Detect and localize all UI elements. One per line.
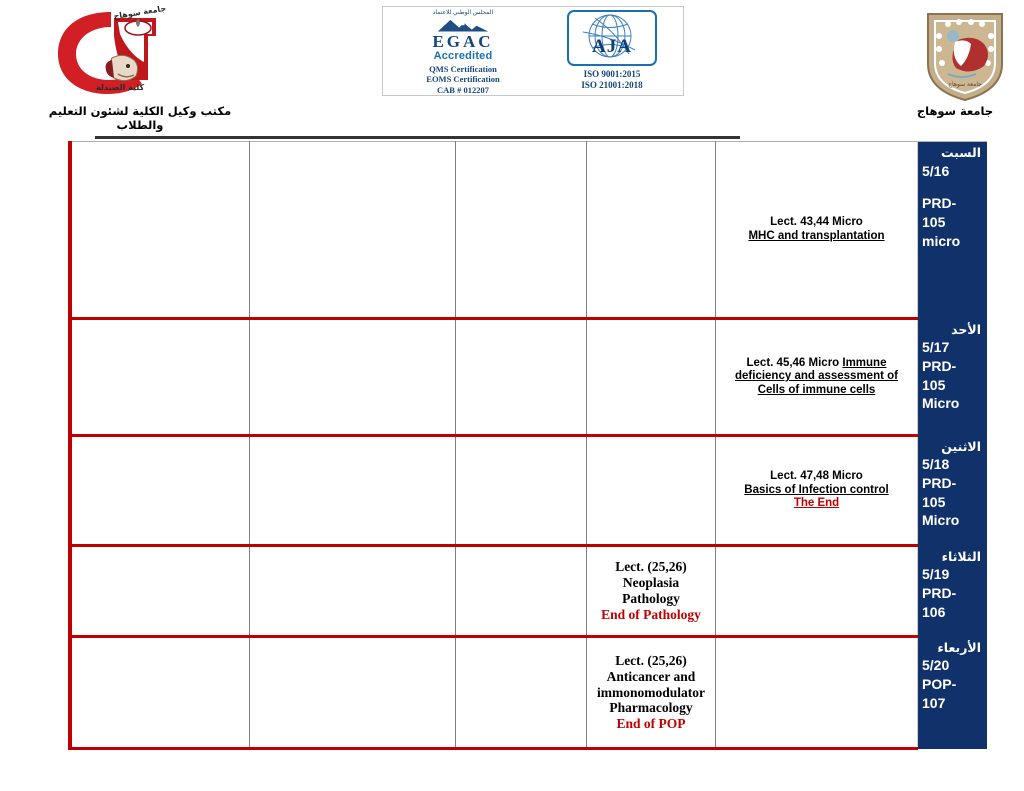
course-code-line: 105: [922, 493, 985, 512]
course-code-line: micro: [922, 232, 985, 251]
table-cell: [70, 142, 250, 319]
lecture-line: Lect. (25,26): [590, 653, 712, 669]
table-top-rule: [95, 136, 740, 139]
lecture-line: Neoplasia: [590, 575, 712, 591]
table-cell: [250, 319, 456, 436]
day-name-arabic: الثلاثاء: [922, 549, 985, 566]
day-date: 5/20: [922, 656, 985, 675]
table-cell: [456, 546, 587, 637]
lecture-line: Basics of Infection control: [719, 484, 914, 498]
course-code-line: PRD-: [922, 357, 985, 376]
course-code-line: Micro: [922, 394, 985, 413]
lecture-line: End of POP: [590, 716, 712, 732]
table-cell: [70, 436, 250, 546]
table-cell: Lect. 43,44 MicroMHC and transplantation: [716, 142, 918, 319]
lecture-line: End of Pathology: [590, 607, 712, 623]
table-row: Lect. 47,48 MicroBasics of Infection con…: [70, 436, 987, 546]
svg-text:جامعة سوهاج: جامعة سوهاج: [948, 81, 982, 88]
egac-wordmark: EGAC: [432, 33, 493, 50]
course-code-line: 107: [922, 694, 985, 713]
course-code-line: PRD-: [922, 474, 985, 493]
table-cell: [250, 436, 456, 546]
table-cell: [587, 436, 716, 546]
schedule-sheet: Lect. 43,44 MicroMHC and transplantation…: [68, 141, 942, 749]
day-code-cell: الثلاثاء5/19PRD-106: [918, 546, 988, 637]
day-code-cell: الأحد5/17PRD-105Micro: [918, 319, 988, 436]
table-cell: [716, 546, 918, 637]
table-cell: [456, 436, 587, 546]
egac-accredited-label: Accredited: [434, 50, 493, 62]
certification-lines: QMS Certification EOMS Certification CAB…: [426, 64, 499, 96]
eoms-certification-line: EOMS Certification: [426, 74, 499, 85]
day-code-cell: الأربعاء5/20POP-107: [918, 637, 988, 749]
course-code-line: PRD-: [922, 584, 985, 603]
egac-accredited-mark: المجلس الوطني للاعتماد EGAC Accredited Q…: [383, 7, 543, 95]
table-cell: Lect. 47,48 MicroBasics of Infection con…: [716, 436, 918, 546]
day-date: 5/19: [922, 565, 985, 584]
iso-21001-line: ISO 21001:2018: [581, 80, 642, 91]
cab-number-line: CAB # 012207: [426, 85, 499, 96]
svg-text:كلية الصيدلة: كلية الصيدلة: [96, 83, 145, 92]
accreditation-certificate-box: المجلس الوطني للاعتماد EGAC Accredited Q…: [382, 6, 684, 96]
course-code-line: 105: [922, 376, 985, 395]
faculty-of-pharmacy-logo: جامعة سوهاج كلية الصيدلة: [52, 6, 170, 98]
lecture-line: Cells of immune cells: [719, 384, 914, 398]
lecture-line: Pharmacology: [590, 700, 712, 716]
day-date: 5/16: [922, 162, 985, 181]
table-cell: [70, 637, 250, 749]
table-cell: [456, 637, 587, 749]
table-row: Lect. 45,46 Micro Immunedeficiency and a…: [70, 319, 987, 436]
course-code-line: POP-: [922, 675, 985, 694]
iso-standards-lines: ISO 9001:2015 ISO 21001:2018: [581, 69, 642, 91]
schedule-table: Lect. 43,44 MicroMHC and transplantation…: [68, 141, 987, 750]
lecture-line: The End: [719, 497, 914, 511]
course-code-line: PRD-: [922, 194, 985, 213]
course-code-line: 105: [922, 213, 985, 232]
course-code-line: Micro: [922, 511, 985, 530]
lecture-line: Pathology: [590, 591, 712, 607]
university-name-label: جامعة سوهاج: [900, 104, 1010, 118]
egac-mountain-icon: [403, 17, 523, 33]
lecture-line: Lect. 43,44 Micro: [719, 216, 914, 230]
table-cell: Lect. (25,26)NeoplasiaPathologyEnd of Pa…: [587, 546, 716, 637]
iso-9001-line: ISO 9001:2015: [581, 69, 642, 80]
table-cell: [716, 637, 918, 749]
schedule-table-body: Lect. 43,44 MicroMHC and transplantation…: [70, 142, 987, 749]
page-header: جامعة سوهاج كلية الصيدلة المجلس الوطني ل…: [0, 0, 1024, 132]
table-cell: [70, 546, 250, 637]
lecture-entry: Lect. (25,26)Anticancer andimmonomodulat…: [590, 653, 712, 733]
table-row: Lect. (25,26)Anticancer andimmonomodulat…: [70, 637, 987, 749]
day-code-cell: السبت5/16PRD-105micro: [918, 142, 988, 319]
lecture-line: Lect. 45,46 Micro Immune: [719, 357, 914, 371]
lecture-entry: Lect. 45,46 Micro Immunedeficiency and a…: [719, 357, 914, 398]
lecture-line-underlined-part: Immune: [842, 357, 886, 369]
table-row: Lect. (25,26)NeoplasiaPathologyEnd of Pa…: [70, 546, 987, 637]
table-cell: [587, 319, 716, 436]
table-cell: [456, 319, 587, 436]
day-name-arabic: السبت: [922, 145, 985, 162]
aja-iso-mark: AJA ISO 9001:2015 ISO 21001:2018: [543, 7, 681, 95]
egac-arabic-caption: المجلس الوطني للاعتماد: [433, 9, 493, 17]
qms-certification-line: QMS Certification: [426, 64, 499, 75]
lecture-line: Lect. 47,48 Micro: [719, 470, 914, 484]
lecture-entry: Lect. (25,26)NeoplasiaPathologyEnd of Pa…: [590, 559, 712, 623]
lecture-line: deficiency and assessment of: [719, 370, 914, 384]
table-cell: [70, 319, 250, 436]
day-code-cell: الاثنين5/18PRD-105Micro: [918, 436, 988, 546]
day-name-arabic: الأربعاء: [922, 640, 985, 657]
day-name-arabic: الأحد: [922, 322, 985, 339]
lecture-line: immonomodulator: [590, 685, 712, 701]
table-cell: [250, 637, 456, 749]
lecture-entry: Lect. 43,44 MicroMHC and transplantation: [719, 216, 914, 243]
table-row: Lect. 43,44 MicroMHC and transplantation…: [70, 142, 987, 319]
lecture-entry: Lect. 47,48 MicroBasics of Infection con…: [719, 470, 914, 511]
table-cell: [587, 142, 716, 319]
course-code-line: 106: [922, 603, 985, 622]
lecture-line: Anticancer and: [590, 669, 712, 685]
day-date: 5/17: [922, 338, 985, 357]
aja-logo-box: AJA: [567, 10, 657, 66]
day-date: 5/18: [922, 455, 985, 474]
table-cell: [456, 142, 587, 319]
lecture-line: MHC and transplantation: [719, 230, 914, 244]
sohag-university-crest: جامعة سوهاج: [918, 6, 1012, 104]
aja-wordmark: AJA: [569, 36, 655, 58]
table-cell: [250, 546, 456, 637]
lecture-line: Lect. (25,26): [590, 559, 712, 575]
day-name-arabic: الاثنين: [922, 439, 985, 456]
vice-dean-office-label: مكتب وكيل الكلية لشئون التعليم والطلاب: [30, 104, 250, 132]
table-cell: Lect. 45,46 Micro Immunedeficiency and a…: [716, 319, 918, 436]
table-cell: Lect. (25,26)Anticancer andimmonomodulat…: [587, 637, 716, 749]
table-cell: [250, 142, 456, 319]
